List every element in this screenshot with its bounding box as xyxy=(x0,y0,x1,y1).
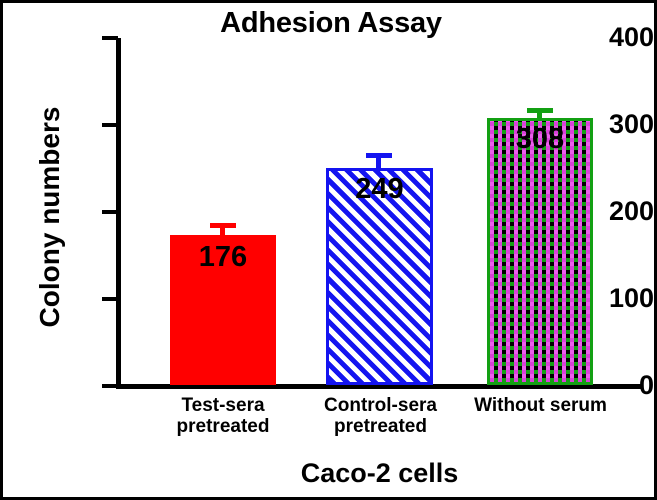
y-axis-line xyxy=(116,38,121,389)
error-bar-stem-without-serum xyxy=(537,108,542,120)
category-label-control-sera: Control-sera pretreated xyxy=(303,395,458,438)
bar-value-test-sera: 176 xyxy=(170,243,276,272)
error-bar-stem-test-sera xyxy=(220,223,225,237)
error-bar-stem-control-sera xyxy=(376,153,381,170)
chart-title: Adhesion Assay xyxy=(51,7,611,40)
chart-figure: Adhesion Assay Colony numbers 400 300 20… xyxy=(0,0,657,500)
category-label-test-sera: Test-sera pretreated xyxy=(153,395,293,438)
y-axis-title: Colony numbers xyxy=(34,67,66,367)
category-label-without-serum: Without serum xyxy=(463,395,618,416)
bar-value-without-serum: 308 xyxy=(487,125,593,154)
y-tick-label-400: 400 xyxy=(560,24,654,51)
bar-value-control-sera: 249 xyxy=(326,175,433,204)
bar-without-serum[interactable] xyxy=(487,118,593,385)
x-axis-title: Caco-2 cells xyxy=(116,458,643,489)
